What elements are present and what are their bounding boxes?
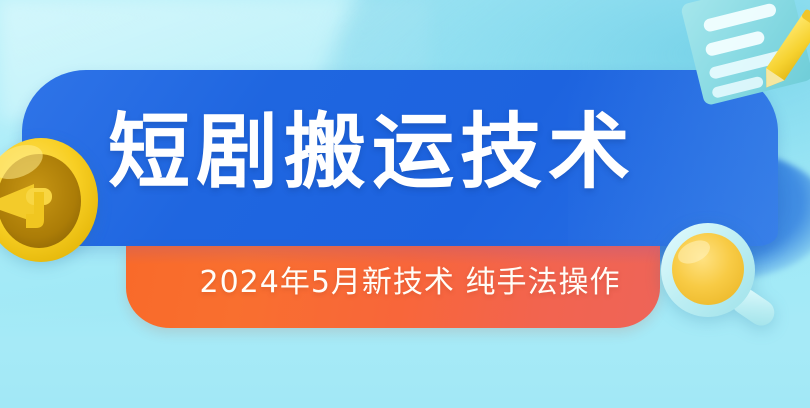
page-title: 短剧搬运技术 bbox=[108, 112, 636, 194]
megaphone-icon bbox=[0, 136, 100, 264]
page-subtitle: 2024年5月新技术 纯手法操作 bbox=[0, 268, 810, 298]
promo-poster: 短剧搬运技术 2024年5月新技术 纯手法操作 bbox=[0, 0, 810, 408]
note-page-icon bbox=[680, 0, 810, 120]
